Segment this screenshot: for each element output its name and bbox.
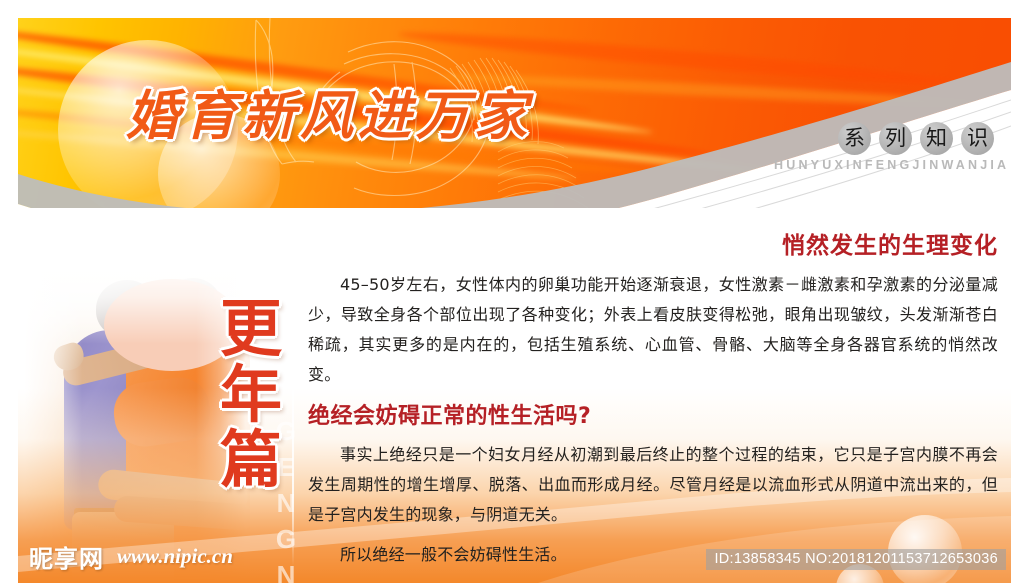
section-title-char-2: 年 [214,362,288,428]
article-heading-1: 悄然发生的生理变化 [308,208,998,260]
series-badge: 系 列 知 识 [838,122,994,155]
site-url: www.nipic.cn [117,544,233,569]
article-heading-2: 绝经会妨碍正常的性生活吗? [308,390,998,430]
header-banner: 婚育新风进万家 [18,18,1011,208]
series-char-2: 列 [879,122,912,155]
poster-canvas: 婚育新风进万家 系 列 知 识 HUNYUXINFENGJINWANJIA [18,18,1011,583]
article-paragraph-2: 事实上绝经只是一个妇女月经从初潮到最后终止的整个过程的结束，它只是子宫内膜不再会… [308,430,998,530]
article-content: 悄然发生的生理变化 45–50岁左右，女性体内的卵巢功能开始逐渐衰退，女性激素－… [308,208,998,570]
series-pinyin: HUNYUXINFENGJINWANJIA [774,158,1009,172]
series-char-3: 知 [920,122,953,155]
image-id-watermark: ID:13858345 NO:20181201153712653036 [706,549,1006,570]
article-paragraph-1: 45–50岁左右，女性体内的卵巢功能开始逐渐衰退，女性激素－雌激素和孕激素的分泌… [308,260,998,390]
page-title: 婚育新风进万家 [126,90,532,143]
section-title-char-1: 更 [214,296,288,362]
section-title: 更 年 篇 [214,296,288,493]
section-title-char-3: 篇 [214,427,288,493]
light-streak-icon [397,26,956,91]
series-char-1: 系 [838,122,871,155]
site-watermark: 昵享网 www.nipic.cn [26,538,233,575]
poster-root: 婚育新风进万家 系 列 知 识 HUNYUXINFENGJINWANJIA [0,0,1024,583]
site-brand: 昵享网 [26,538,107,575]
series-char-4: 识 [961,122,994,155]
